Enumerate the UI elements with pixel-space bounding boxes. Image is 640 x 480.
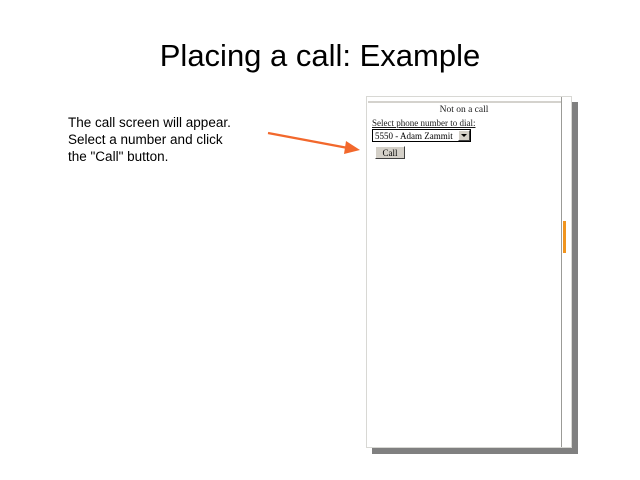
body-line-2: Select a number and click: [68, 131, 268, 148]
arrow-shaft: [268, 133, 348, 148]
call-screen-screenshot: Not on a call Select phone number to dia…: [366, 96, 572, 448]
body-line-3: the "Call" button.: [68, 148, 268, 165]
page-title: Placing a call: Example: [0, 38, 640, 74]
slide-body-text: The call screen will appear. Select a nu…: [68, 114, 268, 165]
phone-number-select-value: 5550 - Adam Zammit: [373, 131, 458, 141]
vertical-scrollbar[interactable]: [561, 97, 571, 447]
screenshot-shadow-bottom: [372, 448, 578, 454]
arrow-right-icon: [260, 122, 370, 162]
body-line-1: The call screen will appear.: [68, 114, 268, 131]
arrow-head: [344, 141, 360, 154]
screenshot-shadow-right: [572, 102, 578, 454]
chevron-down-icon[interactable]: [458, 130, 470, 141]
phone-number-select[interactable]: 5550 - Adam Zammit: [372, 129, 471, 142]
call-status-text: Not on a call: [367, 105, 561, 115]
call-button[interactable]: Call: [375, 146, 405, 159]
toolbar-separator: [368, 101, 561, 103]
select-phone-number-label: Select phone number to dial:: [372, 118, 475, 128]
scrollbar-thumb[interactable]: [563, 221, 566, 253]
